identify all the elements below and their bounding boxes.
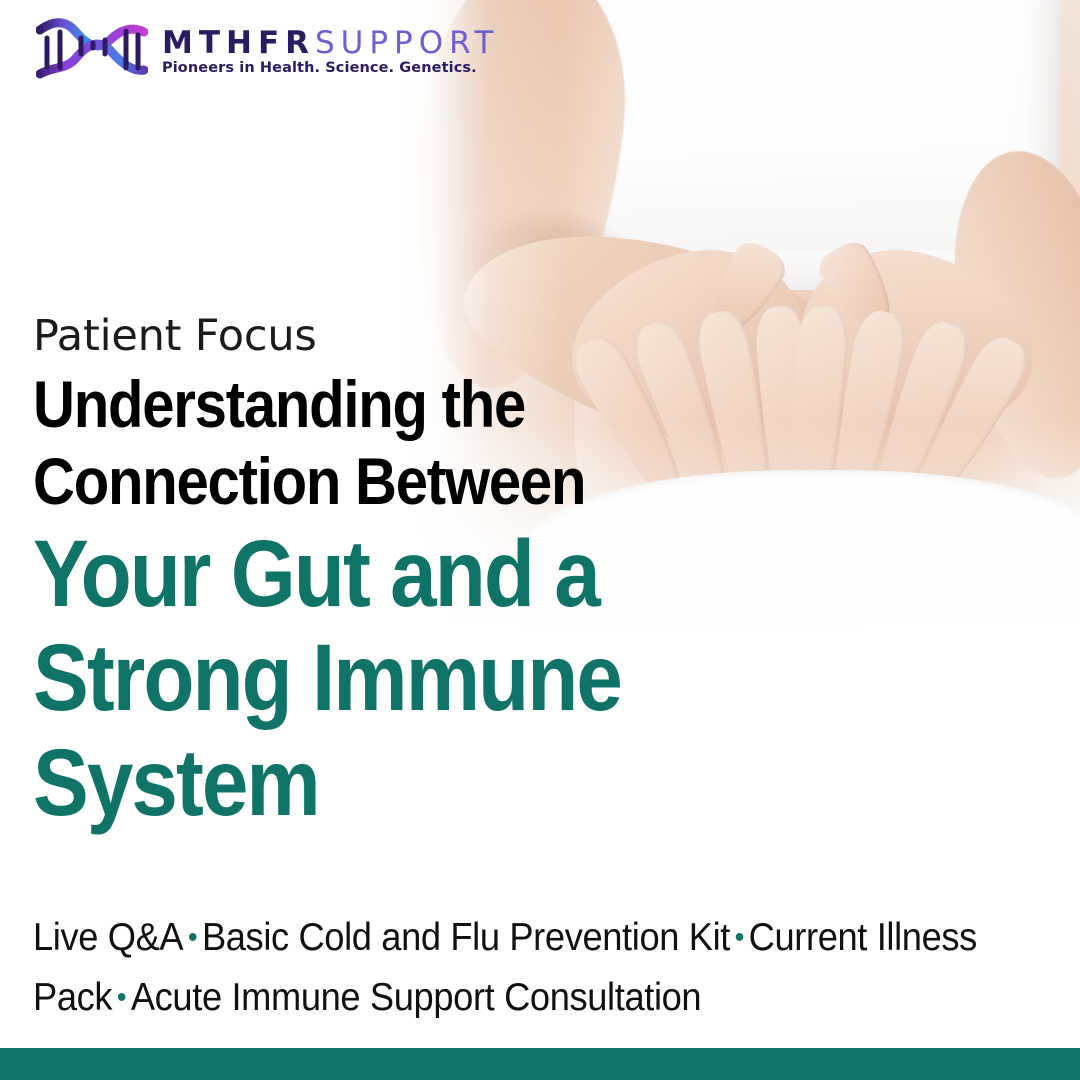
headline-block: Patient Focus Understanding the Connecti… (33, 312, 1047, 834)
wordmark: MTHFRSUPPORT (162, 28, 499, 59)
headline-black-line-1: Understanding the (33, 366, 925, 443)
headline-black-line-2: Connection Between (33, 443, 925, 520)
offering-item: Acute Immune Support Consultation (131, 976, 701, 1019)
eyebrow-label: Patient Focus (33, 312, 1047, 360)
offering-item: Live Q&A (33, 916, 183, 959)
wordmark-primary: MTHFR (162, 25, 315, 61)
brand-logo[interactable]: MTHFRSUPPORT Pioneers in Health. Science… (36, 18, 499, 86)
dna-helix-icon (36, 18, 148, 86)
offering-item: Basic Cold and Flu Prevention Kit (202, 916, 730, 959)
headline-green-line-1: Your Gut and a (33, 523, 925, 626)
logo-text-block: MTHFRSUPPORT Pioneers in Health. Science… (162, 28, 499, 76)
bullet-separator-icon: • (730, 921, 749, 954)
headline-green-line-3: System (33, 732, 925, 835)
footer-accent-bar (0, 1048, 1080, 1080)
wordmark-secondary: SUPPORT (315, 25, 499, 61)
offerings-list: Live Q&A•Basic Cold and Flu Prevention K… (33, 908, 978, 1029)
promotional-graphic: MTHFRSUPPORT Pioneers in Health. Science… (0, 0, 1080, 1080)
bullet-separator-icon: • (112, 981, 131, 1014)
headline-green-line-2: Strong Immune (33, 627, 925, 730)
brand-tagline: Pioneers in Health. Science. Genetics. (162, 61, 499, 76)
bullet-separator-icon: • (183, 921, 202, 954)
